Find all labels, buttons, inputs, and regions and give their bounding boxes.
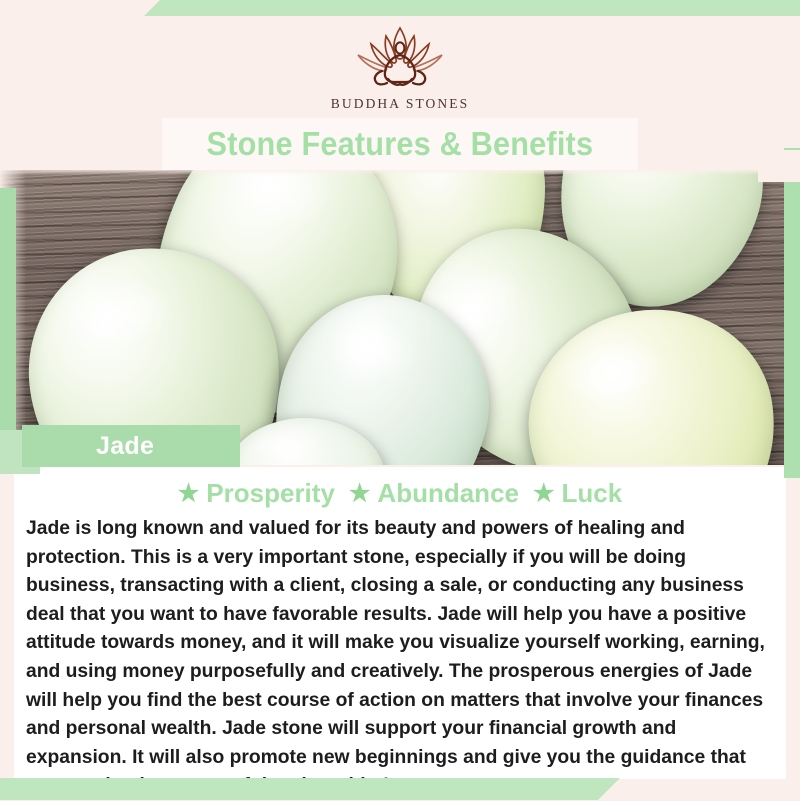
stone-name-badge: Jade [22,425,240,467]
right-green-ribbon [784,148,800,478]
title-band: Stone Features & Benefits [162,118,638,170]
content-panel: ★ Prosperity ★ Abundance ★ Luck Jade is … [14,467,786,779]
keyword-row: ★ Prosperity ★ Abundance ★ Luck [14,467,786,509]
keyword-luck: ★ Luck [533,478,622,509]
right-ribbon-notch [758,150,800,182]
star-icon: ★ [533,482,555,506]
keyword-label: Prosperity [206,478,335,509]
brand-logo: BUDDHA STONES [0,22,800,112]
star-icon: ★ [349,482,371,506]
stone-description: Jade is long known and valued for its be… [14,509,786,801]
page-title: Stone Features & Benefits [207,125,594,163]
bottom-green-ribbon [0,778,620,800]
photo-top-fade [0,170,800,175]
brand-name: BUDDHA STONES [331,96,469,112]
jade-stones-photo [0,170,800,465]
keyword-abundance: ★ Abundance [349,478,519,509]
top-green-ribbon [144,0,800,16]
keyword-label: Abundance [377,478,519,509]
keyword-label: Luck [562,478,623,509]
keyword-prosperity: ★ Prosperity [178,478,335,509]
lotus-meditation-icon [340,22,460,92]
stone-name: Jade [22,432,154,461]
star-icon: ★ [178,482,200,506]
